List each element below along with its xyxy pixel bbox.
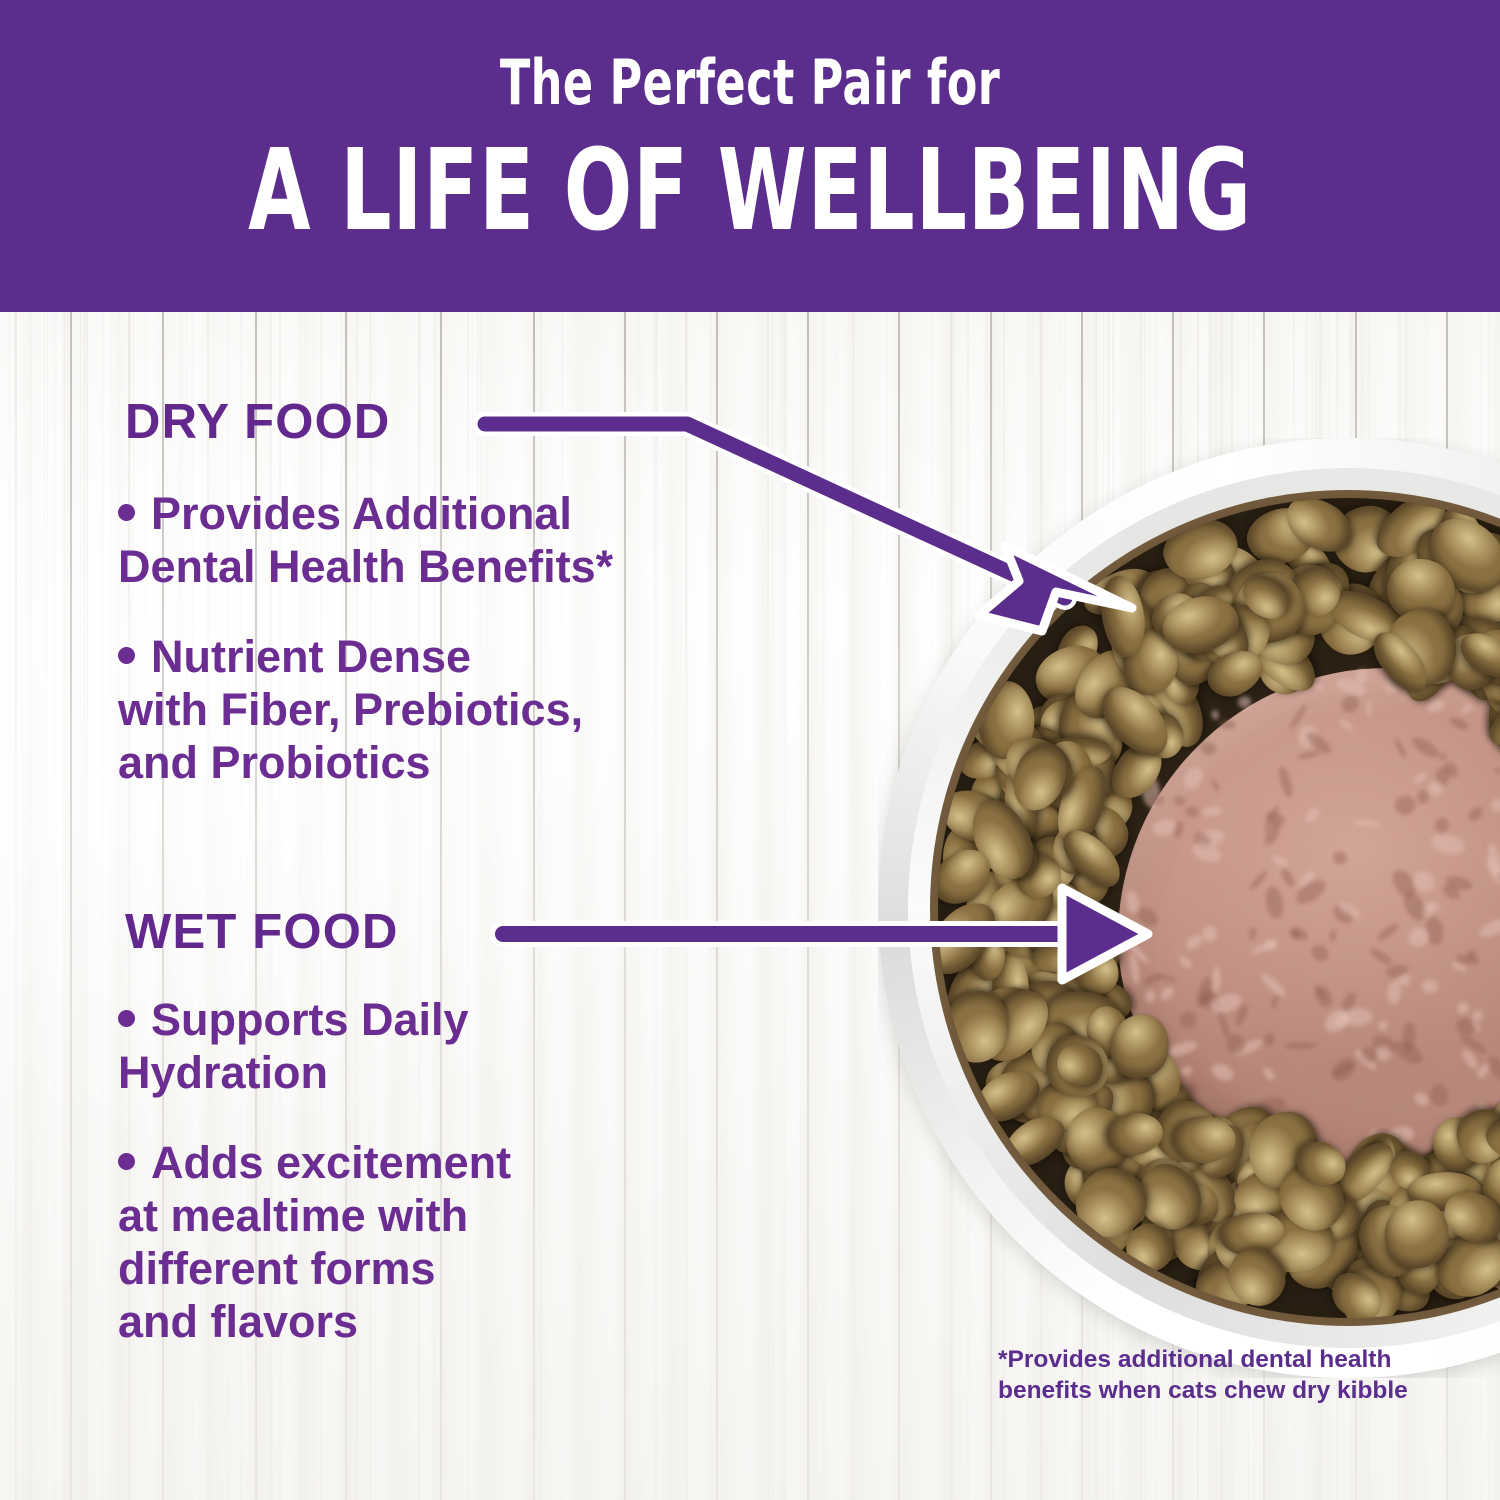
pate-texture-fleck: [1159, 985, 1177, 1002]
pate-texture-fleck: [1429, 831, 1466, 856]
pate-texture-fleck: [1263, 885, 1285, 920]
bullet-dot-icon: [118, 647, 135, 664]
pate-texture-fleck: [1279, 867, 1296, 888]
pate-texture-fleck: [1142, 971, 1164, 986]
pate-texture-fleck: [1178, 954, 1194, 970]
pate-texture-fleck: [1209, 1061, 1237, 1085]
bullet-text-line: with Fiber, Prebiotics,: [118, 684, 583, 735]
pate-texture-fleck: [1219, 720, 1237, 731]
pate-texture-fleck: [1144, 989, 1156, 1003]
dry-food-heading: DRY FOOD: [125, 398, 391, 447]
wet-food-bullet-2: Adds excitement at mealtime with differe…: [118, 1136, 818, 1348]
pate-texture-fleck: [1409, 734, 1442, 762]
bullet-dot-icon: [118, 1153, 135, 1170]
pate-texture-fleck: [1237, 695, 1252, 709]
pate-texture-fleck: [1290, 927, 1310, 943]
dental-health-footnote: *Provides additional dental health benef…: [998, 1344, 1418, 1407]
pate-texture-fleck: [1412, 1090, 1431, 1109]
pate-texture-fleck: [1270, 995, 1280, 1010]
pate-texture-fleck: [1332, 849, 1350, 867]
pate-texture-fleck: [1309, 942, 1332, 964]
pate-texture-fleck: [1270, 853, 1289, 868]
bullet-text-line: Nutrient Dense: [151, 631, 471, 682]
pate-texture-fleck: [1448, 715, 1470, 732]
pate-texture-fleck: [1183, 805, 1200, 819]
pate-texture-fleck: [1368, 945, 1395, 967]
pate-texture-fleck: [1366, 701, 1372, 717]
bullet-text-line: Provides Additional: [151, 488, 572, 539]
kibble-piece: [946, 991, 1009, 1063]
dry-food-bullet-1: Provides Additional Dental Health Benefi…: [118, 487, 818, 593]
pate-texture-fleck: [1180, 764, 1206, 792]
bullet-text-line: Dental Health Benefits*: [118, 541, 613, 592]
pate-texture-fleck: [1338, 693, 1362, 717]
wet-food-bullet-1: Supports Daily Hydration: [118, 993, 818, 1099]
bullet-text-line: Hydration: [118, 1047, 328, 1098]
pate-texture-fleck: [1459, 702, 1474, 716]
pate-texture-fleck: [1166, 1038, 1199, 1058]
pate-texture-fleck: [1421, 980, 1438, 994]
pate-texture-fleck: [1147, 794, 1165, 805]
pate-texture-fleck: [1490, 797, 1500, 812]
pate-texture-fleck: [1376, 1019, 1389, 1032]
pate-texture-fleck: [1494, 767, 1500, 774]
footnote-line: benefits when cats chew dry kibble: [998, 1377, 1408, 1404]
pate-texture-fleck: [1276, 766, 1294, 799]
pate-texture-fleck: [1433, 816, 1451, 834]
bullet-text-line: Adds excitement: [151, 1137, 511, 1188]
pate-texture-fleck: [1429, 1083, 1449, 1107]
pate-texture-fleck: [1173, 795, 1187, 808]
bullet-text-line: and flavors: [118, 1296, 358, 1347]
pate-texture-fleck: [1210, 779, 1220, 793]
pate-texture-fleck: [1329, 928, 1337, 943]
copy-column: DRY FOOD Provides Additional Dental Heal…: [0, 0, 860, 1500]
bullet-dot-icon: [118, 1010, 135, 1027]
pate-texture-fleck: [1303, 805, 1322, 825]
dry-food-bullet-2: Nutrient Dense with Fiber, Prebiotics, a…: [118, 630, 818, 789]
pate-texture-fleck: [1416, 790, 1429, 805]
food-bowl-image: [878, 438, 1500, 1378]
pate-texture-fleck: [1477, 915, 1500, 941]
pate-texture-fleck: [1327, 1054, 1359, 1086]
bullet-text-line: different forms: [118, 1243, 436, 1294]
pate-texture-fleck: [1210, 709, 1219, 720]
pate-texture-fleck: [1486, 842, 1500, 877]
footnote-line: *Provides additional dental health: [998, 1346, 1391, 1373]
pate-texture-fleck: [1455, 1000, 1471, 1016]
pate-texture-fleck: [1466, 804, 1485, 823]
pate-texture-fleck: [1248, 926, 1257, 940]
pate-texture-fleck: [1261, 1066, 1276, 1082]
bullet-text-line: at mealtime with: [118, 1190, 468, 1241]
infographic-canvas: The Perfect Pair for A LIFE OF WELLBEING…: [0, 0, 1500, 1500]
pate-texture-fleck: [1338, 717, 1354, 732]
pate-texture-fleck: [1201, 805, 1223, 817]
pate-texture-fleck: [1262, 1032, 1276, 1048]
pate-texture-fleck: [1296, 750, 1321, 761]
bullet-dot-icon: [118, 504, 135, 521]
pate-texture-fleck: [1375, 921, 1401, 943]
wet-food-heading: WET FOOD: [125, 908, 399, 957]
pate-texture-fleck: [1200, 742, 1216, 756]
pate-texture-fleck: [1399, 889, 1429, 925]
pate-texture-fleck: [1177, 1008, 1200, 1031]
bullet-text-line: Supports Daily: [151, 994, 469, 1045]
pate-texture-fleck: [1392, 736, 1408, 759]
bullet-text-line: and Probiotics: [118, 737, 431, 788]
pate-texture-fleck: [1412, 771, 1428, 785]
bowl-photo-clip: [878, 438, 1500, 1378]
pate-texture-fleck: [1211, 967, 1222, 992]
pate-texture-fleck: [1284, 1042, 1317, 1050]
pate-texture-fleck: [1394, 795, 1416, 815]
pate-texture-fleck: [1352, 819, 1379, 828]
